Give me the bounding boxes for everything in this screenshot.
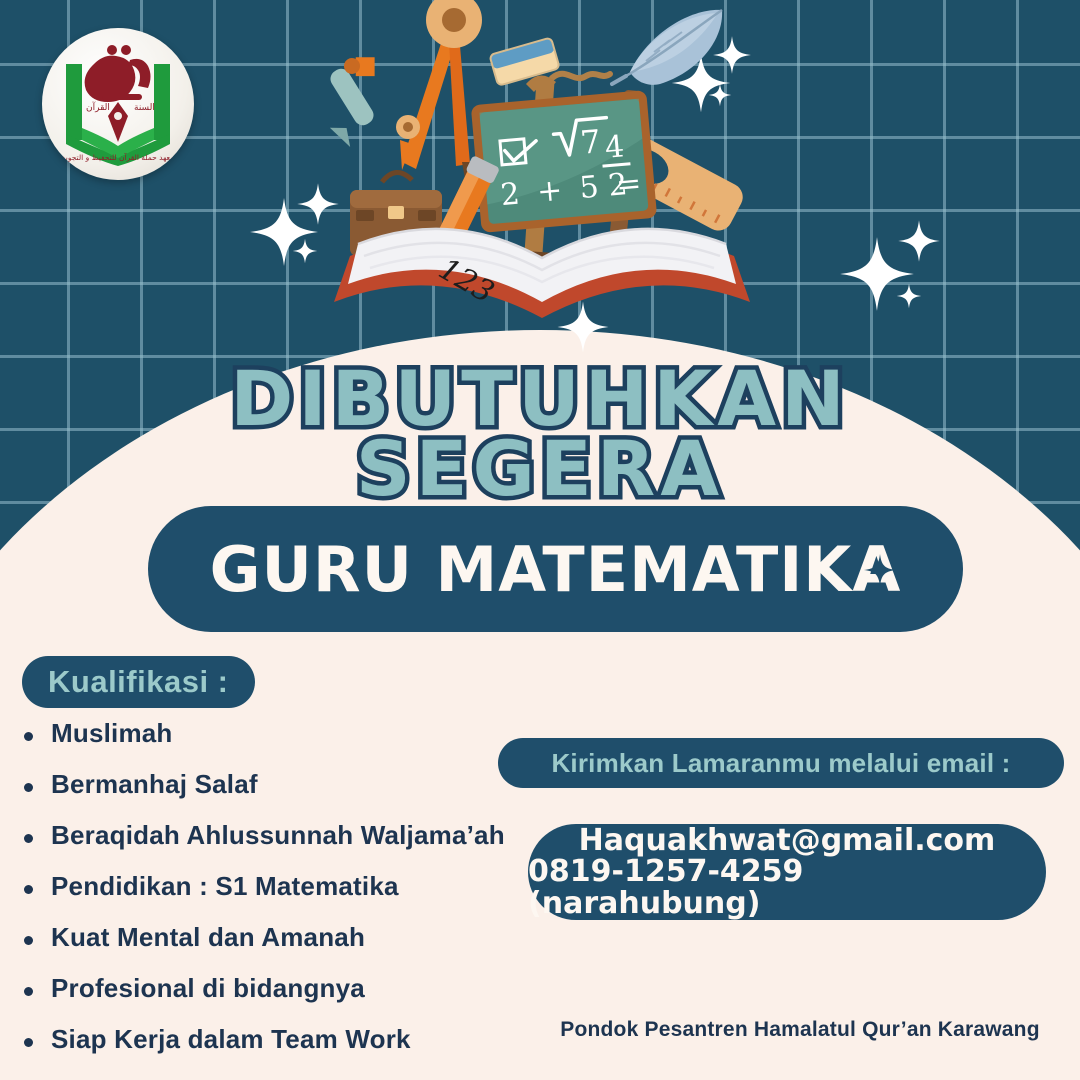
bullet-icon xyxy=(24,732,33,741)
pen-nib-icon xyxy=(330,49,383,151)
list-item: Pendidikan : S1 Matematika xyxy=(20,871,540,902)
headline-block: DIBUTUHKAN SEGERA xyxy=(0,364,1080,504)
bullet-icon xyxy=(24,885,33,894)
blackboard-icon: 7 4 2 2 + 5 = xyxy=(471,90,657,233)
bullet-icon xyxy=(24,1038,33,1047)
list-item-label: Profesional di bidangnya xyxy=(51,973,365,1004)
list-item: Muslimah xyxy=(20,718,540,749)
logo-word-quran: القرآن xyxy=(86,101,110,113)
bullet-icon xyxy=(24,936,33,945)
sparkle-icon xyxy=(863,529,897,602)
contact-email[interactable]: Haquakhwat@gmail.com xyxy=(579,825,996,857)
list-item-label: Siap Kerja dalam Team Work xyxy=(51,1024,411,1055)
logo-word-sunnah: السنة xyxy=(134,103,155,113)
job-title-text: GURU MATEMATIKA xyxy=(210,533,902,606)
email-instruction-label: Kirimkan Lamaranmu melalui email : xyxy=(551,748,1010,779)
qualifications-list: Muslimah Bermanhaj Salaf Beraqidah Ahlus… xyxy=(20,718,540,1075)
email-instruction-badge: Kirimkan Lamaranmu melalui email : xyxy=(498,738,1064,788)
list-item: Siap Kerja dalam Team Work xyxy=(20,1024,540,1055)
organization-name: Pondok Pesantren Hamalatul Qur’an Karawa… xyxy=(560,1018,1039,1041)
headline-line-2: SEGERA xyxy=(356,434,724,504)
qualifications-label: Kualifikasi : xyxy=(48,664,229,700)
blackboard-fraction-top: 4 xyxy=(603,129,625,166)
job-title-banner: GURU MATEMATIKA xyxy=(148,506,963,632)
bullet-icon xyxy=(24,783,33,792)
list-item: Profesional di bidangnya xyxy=(20,973,540,1004)
list-item-label: Bermanhaj Salaf xyxy=(51,769,258,800)
education-illustration: 7 4 2 2 + 5 = xyxy=(330,0,760,334)
sparkle-icon xyxy=(897,219,941,263)
list-item-label: Kuat Mental dan Amanah xyxy=(51,922,365,953)
contact-badge: Haquakhwat@gmail.com 0819-1257-4259 (nar… xyxy=(528,824,1046,920)
list-item-label: Beraqidah Ahlussunnah Waljama’ah xyxy=(51,820,505,851)
footer-block: Pondok Pesantren Hamalatul Qur’an Karawa… xyxy=(540,1018,1060,1042)
blackboard-root-value: 7 xyxy=(579,122,603,162)
bullet-icon xyxy=(24,987,33,996)
institution-logo: القرآن السنة معهد حملة القرآن للتحفيظ و … xyxy=(42,28,194,180)
logo-institution-arabic: معهد حملة القرآن للتحفيظ و التجويد xyxy=(62,152,174,162)
squiggle-icon xyxy=(552,74,610,78)
list-item: Bermanhaj Salaf xyxy=(20,769,540,800)
sparkle-icon xyxy=(896,283,922,309)
recruitment-poster: 7 4 2 2 + 5 = xyxy=(0,0,1080,1080)
list-item: Beraqidah Ahlussunnah Waljama’ah xyxy=(20,820,540,851)
feather-quill-icon xyxy=(612,10,722,85)
list-item-label: Muslimah xyxy=(51,718,173,749)
sparkle-icon xyxy=(292,238,318,264)
bullet-icon xyxy=(24,834,33,843)
qualifications-badge: Kualifikasi : xyxy=(22,656,255,708)
contact-phone[interactable]: 0819-1257-4259 (narahubung) xyxy=(528,856,1046,919)
list-item: Kuat Mental dan Amanah xyxy=(20,922,540,953)
list-item-label: Pendidikan : S1 Matematika xyxy=(51,871,399,902)
